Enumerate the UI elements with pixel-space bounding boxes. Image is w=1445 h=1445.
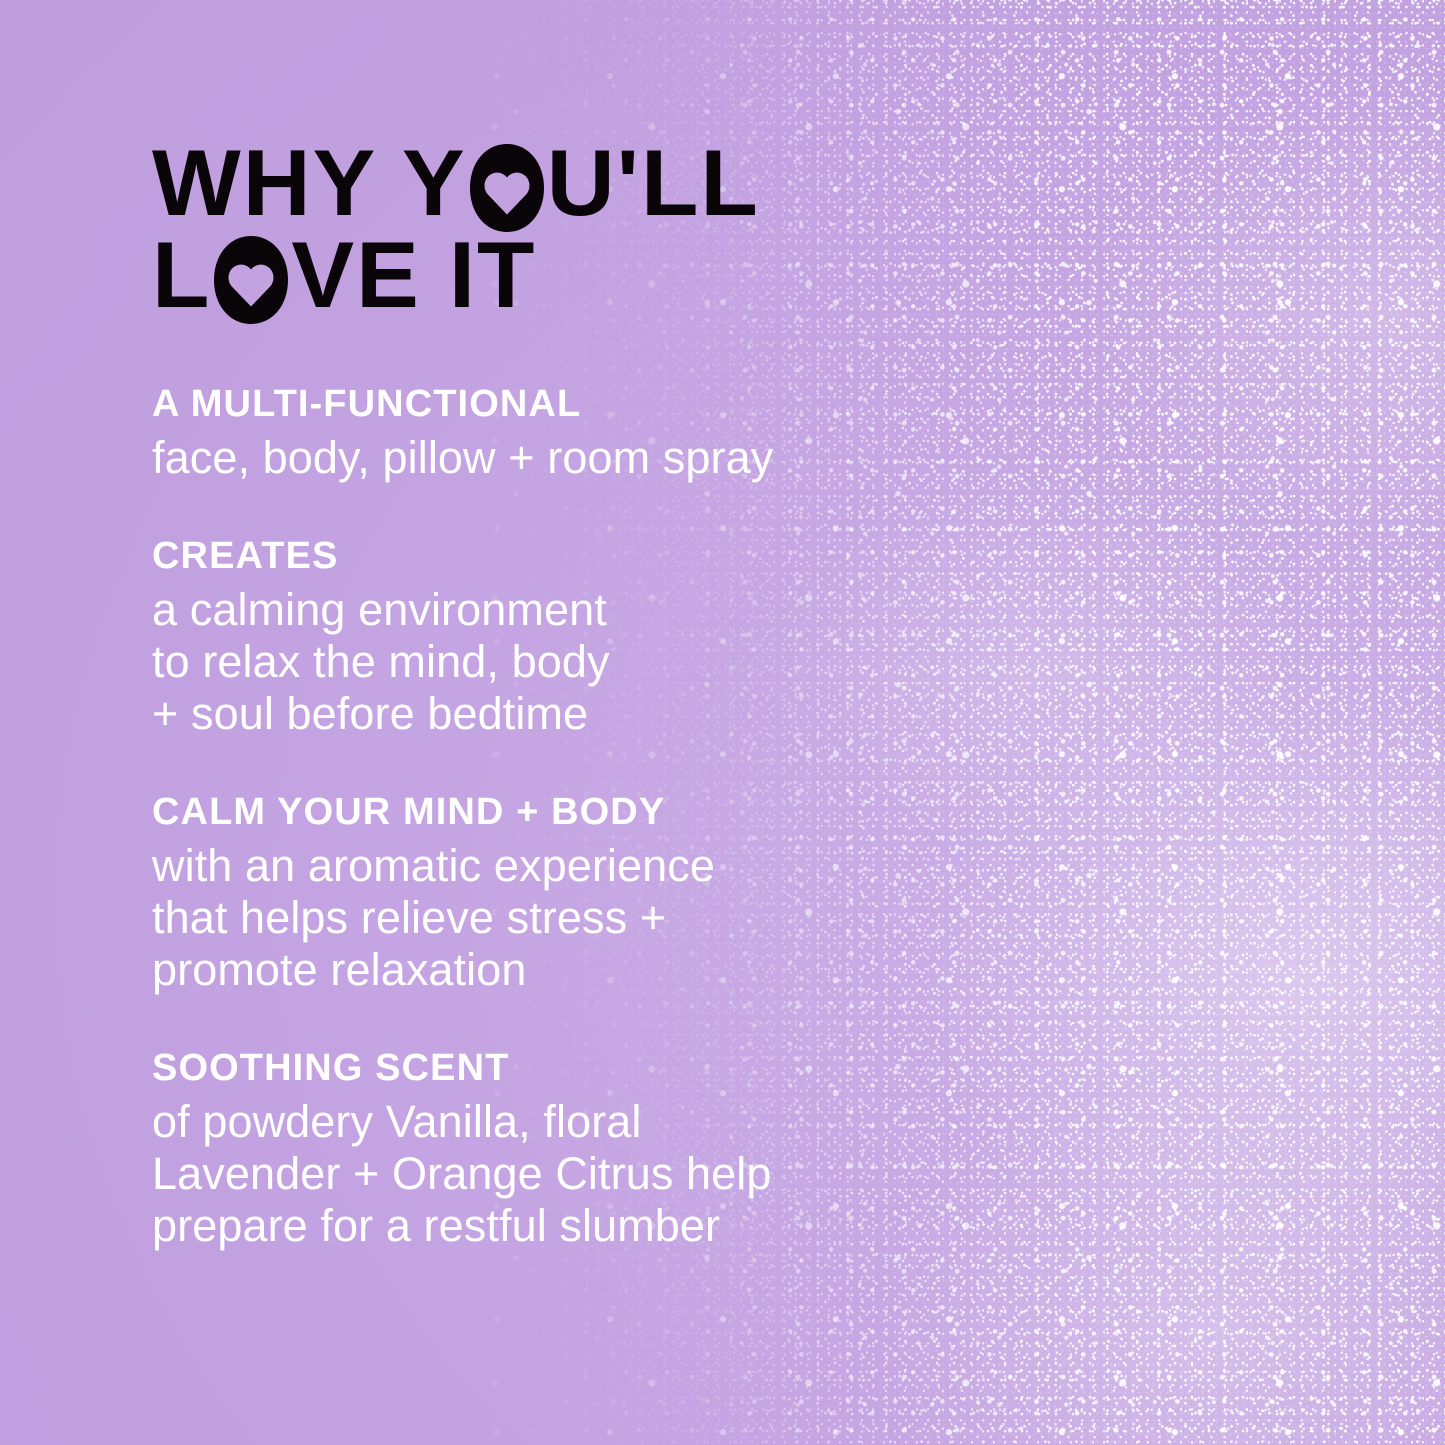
product-benefits-poster: WHY Y U'LL L VE IT A MULTI-FUNCTIONAL fa… (0, 0, 1445, 1445)
title-line-2: L VE IT (152, 229, 760, 321)
benefit-body-line: a calming environment (152, 584, 952, 636)
benefit-heading: SOOTHING SCENT (152, 1046, 952, 1090)
benefit-body-line: + soul before bedtime (152, 688, 952, 740)
heart-counter-o-icon (212, 234, 290, 326)
benefit-body: with an aromatic experience that helps r… (152, 840, 952, 996)
benefit-body: of powdery Vanilla, floral Lavender + Or… (152, 1096, 952, 1252)
benefit-body: a calming environment to relax the mind,… (152, 584, 952, 740)
page-title: WHY Y U'LL L VE IT (152, 137, 760, 321)
benefit-heading: CALM YOUR MIND + BODY (152, 790, 952, 834)
benefit-body-line: face, body, pillow + room spray (152, 432, 952, 484)
heart-counter-o-icon (468, 142, 546, 234)
benefit-body-line: Lavender + Orange Citrus help (152, 1148, 952, 1200)
benefit-body-line: promote relaxation (152, 944, 952, 996)
benefit-block: SOOTHING SCENT of powdery Vanilla, flora… (152, 1046, 952, 1252)
benefit-body-line: of powdery Vanilla, floral (152, 1096, 952, 1148)
benefit-block: A MULTI-FUNCTIONAL face, body, pillow + … (152, 382, 952, 484)
title-line-1: WHY Y U'LL (152, 137, 760, 229)
benefit-body-line: prepare for a restful slumber (152, 1200, 952, 1252)
benefit-block: CREATES a calming environment to relax t… (152, 534, 952, 740)
benefit-body-line: that helps relieve stress + (152, 892, 952, 944)
benefit-body-line: with an aromatic experience (152, 840, 952, 892)
title-text-why-y: WHY Y (152, 137, 467, 229)
title-text-ull: U'LL (547, 137, 760, 229)
benefit-heading: CREATES (152, 534, 952, 578)
benefit-block: CALM YOUR MIND + BODY with an aromatic e… (152, 790, 952, 996)
benefit-heading: A MULTI-FUNCTIONAL (152, 382, 952, 426)
benefit-body: face, body, pillow + room spray (152, 432, 952, 484)
title-text-l: L (152, 229, 211, 321)
benefit-list: A MULTI-FUNCTIONAL face, body, pillow + … (152, 382, 952, 1252)
title-text-ve-it: VE IT (291, 229, 536, 321)
content-column: WHY Y U'LL L VE IT A MULTI-FUNCTIONAL fa… (152, 0, 992, 1445)
benefit-body-line: to relax the mind, body (152, 636, 952, 688)
